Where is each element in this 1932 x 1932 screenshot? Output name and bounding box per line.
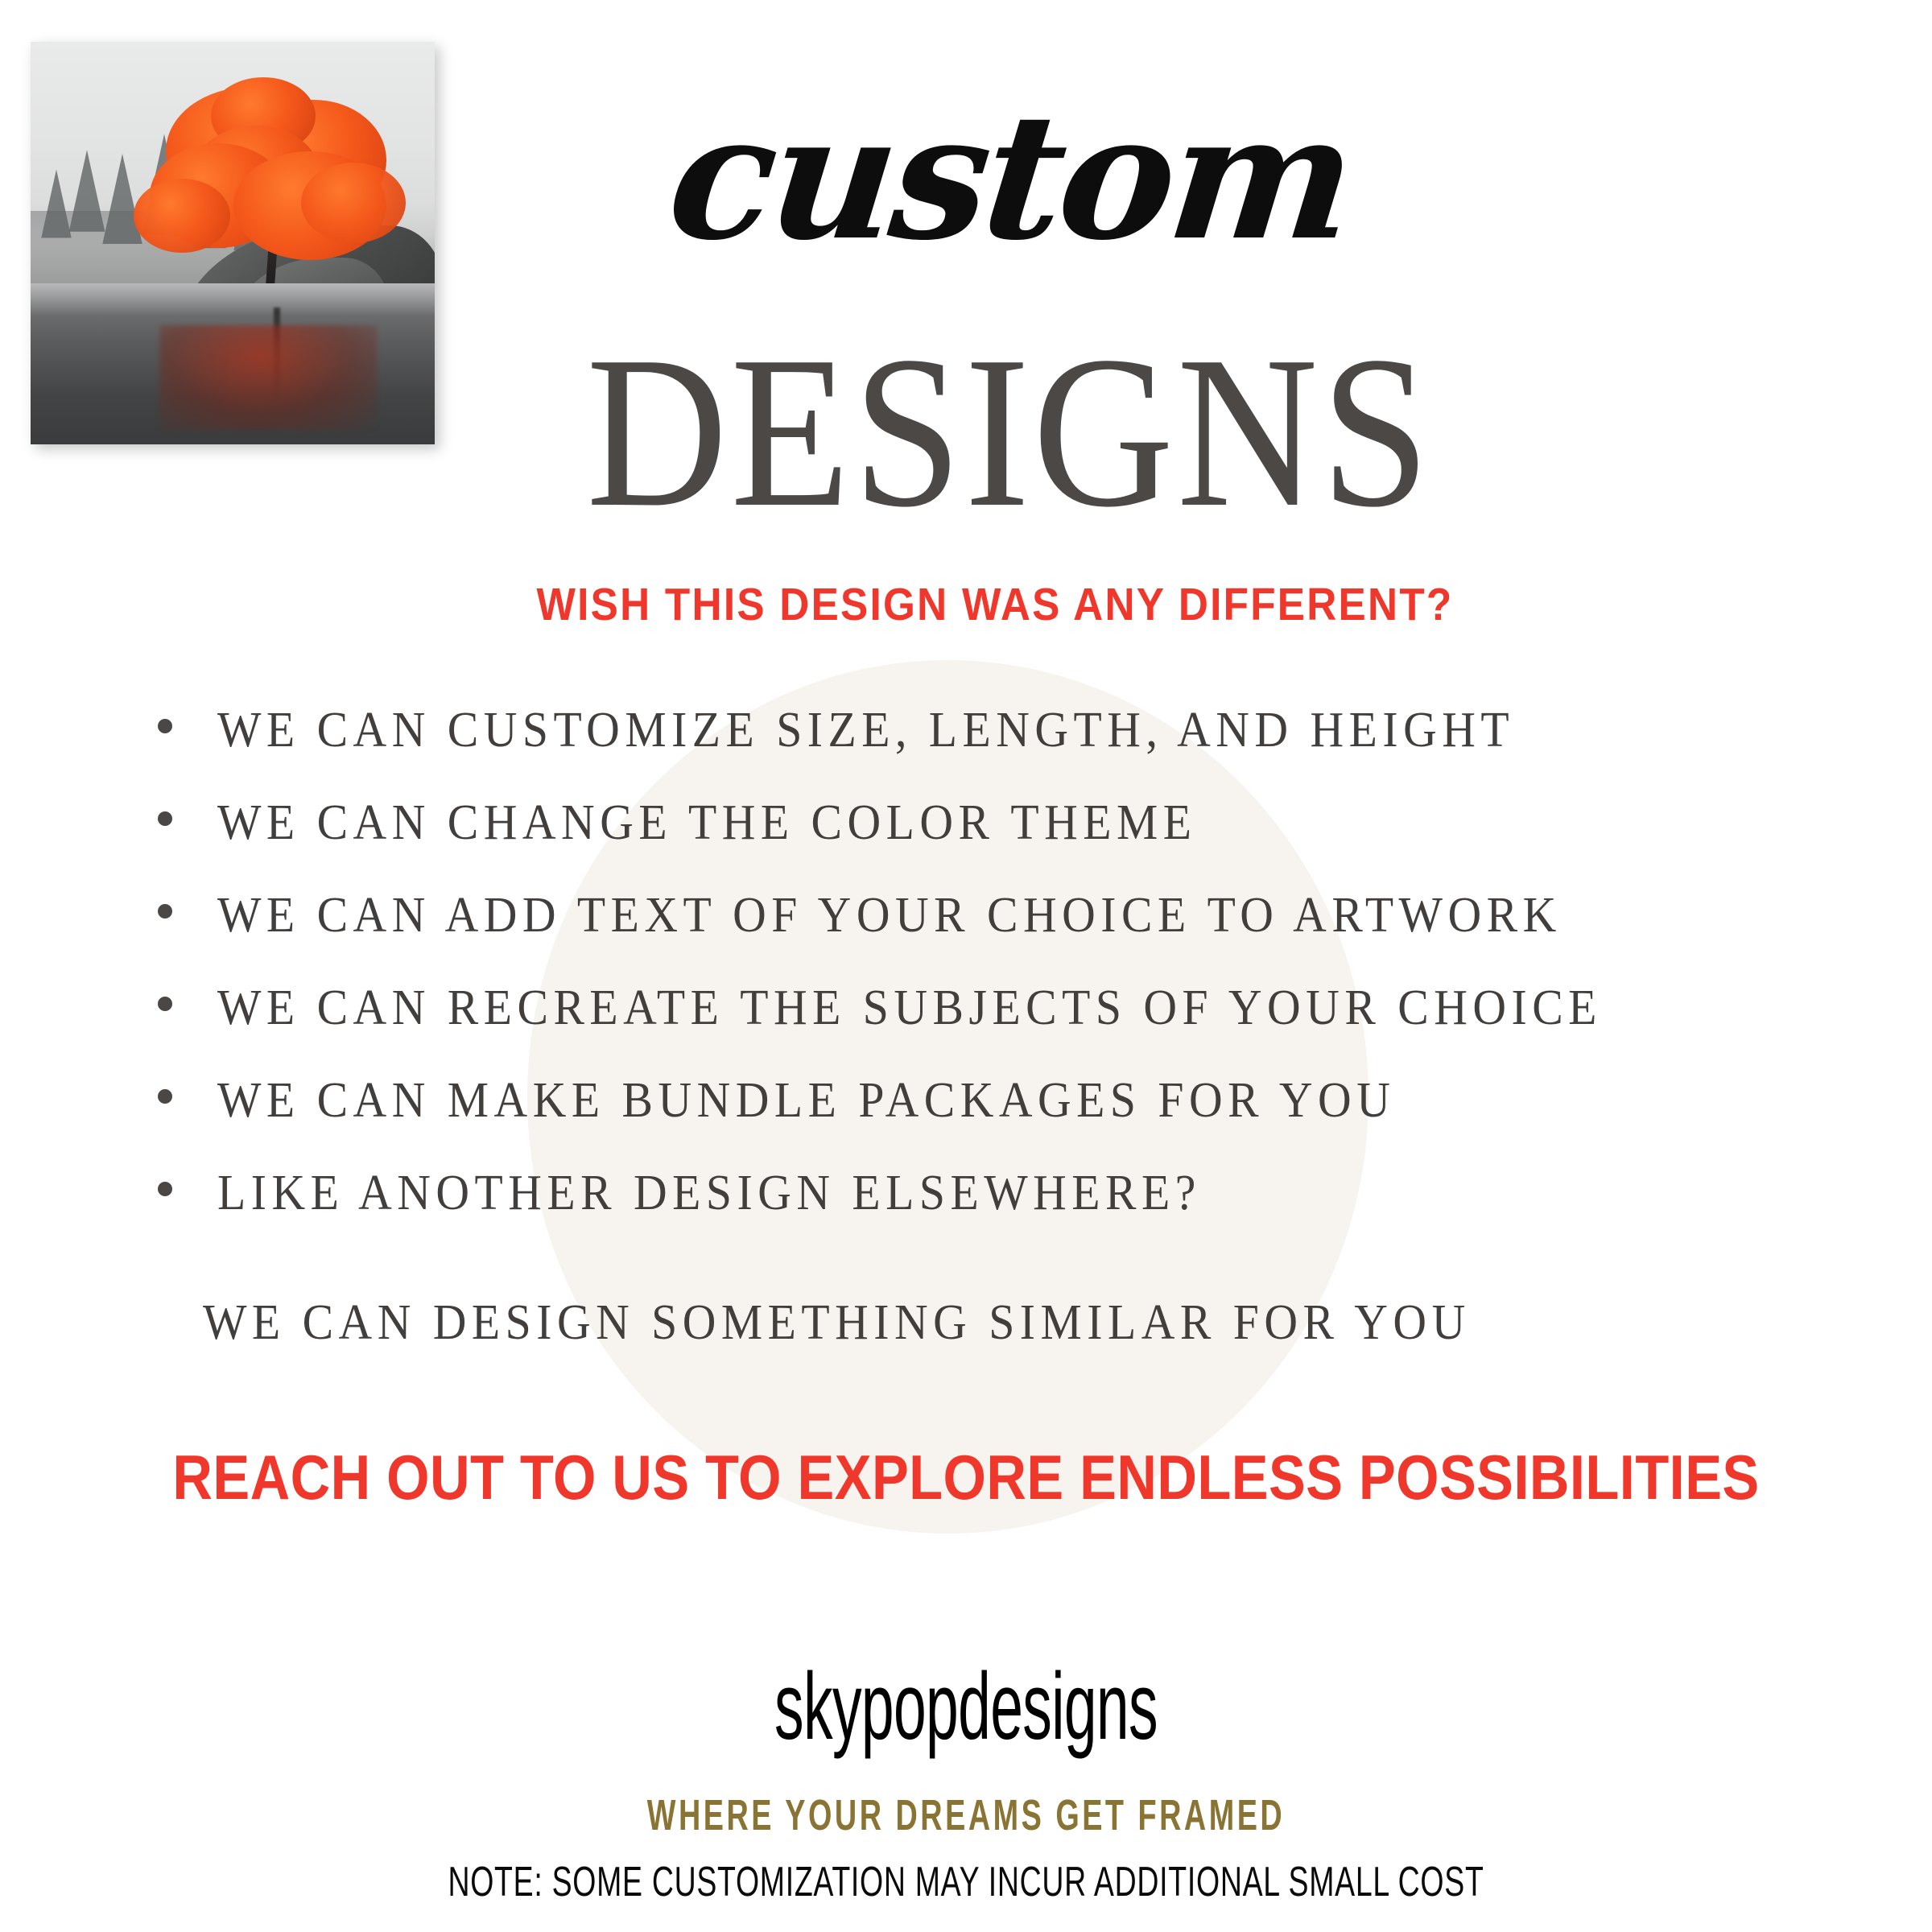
- call-to-action-text: REACH OUT TO US TO EXPLORE ENDLESS POSSI…: [116, 1441, 1816, 1514]
- subtitle-question: WISH THIS DESIGN WAS ANY DIFFERENT?: [97, 578, 1835, 631]
- feature-label: WE CAN CHANGE THE COLOR THEME: [217, 795, 1196, 852]
- bullet-dot-icon: [158, 1182, 172, 1196]
- bullet-dot-icon: [158, 904, 172, 919]
- feature-label: WE CAN MAKE BUNDLE PACKAGES FOR YOU: [217, 1072, 1395, 1129]
- feature-label: WE CAN RECREATE THE SUBJECTS OF YOUR CHO…: [217, 980, 1602, 1037]
- bullet-dot-icon: [158, 1089, 172, 1104]
- list-item: WE CAN ADD TEXT OF YOUR CHOICE TO ARTWOR…: [158, 887, 1864, 980]
- custom-designs-poster: custom DESIGNS WISH THIS DESIGN WAS ANY …: [0, 0, 1932, 1932]
- brand-tagline: WHERE YOUR DREAMS GET FRAMED: [290, 1790, 1642, 1840]
- feature-label: WE CAN CUSTOMIZE SIZE, LENGTH, AND HEIGH…: [217, 702, 1514, 759]
- brand-logo-wordmark: skypopdesigns: [367, 1652, 1565, 1761]
- feature-continuation-label: WE CAN DESIGN SOMETHING SIMILAR FOR YOU: [203, 1294, 1471, 1352]
- feature-label: WE CAN ADD TEXT OF YOUR CHOICE TO ARTWOR…: [217, 887, 1562, 944]
- list-item: WE CAN CUSTOMIZE SIZE, LENGTH, AND HEIGH…: [158, 702, 1864, 795]
- water-mist-streak: [31, 283, 435, 316]
- bullet-dot-icon: [158, 997, 172, 1011]
- bullet-dot-icon: [158, 719, 172, 733]
- bullet-dot-icon: [158, 811, 172, 826]
- feature-label: LIKE ANOTHER DESIGN ELSEWHERE?: [217, 1165, 1201, 1222]
- disclaimer-note: NOTE: SOME CUSTOMIZATION MAY INCUR ADDIT…: [270, 1858, 1662, 1906]
- list-item: LIKE ANOTHER DESIGN ELSEWHERE?: [158, 1165, 1864, 1257]
- page-title-designs: DESIGNS: [97, 324, 1835, 541]
- list-item: WE CAN CHANGE THE COLOR THEME: [158, 795, 1864, 887]
- features-list: WE CAN CUSTOMIZE SIZE, LENGTH, AND HEIGH…: [158, 702, 1864, 1257]
- list-item: WE CAN RECREATE THE SUBJECTS OF YOUR CHO…: [158, 980, 1864, 1072]
- script-heading-custom: custom: [0, 90, 1932, 263]
- list-item: WE CAN MAKE BUNDLE PACKAGES FOR YOU: [158, 1072, 1864, 1165]
